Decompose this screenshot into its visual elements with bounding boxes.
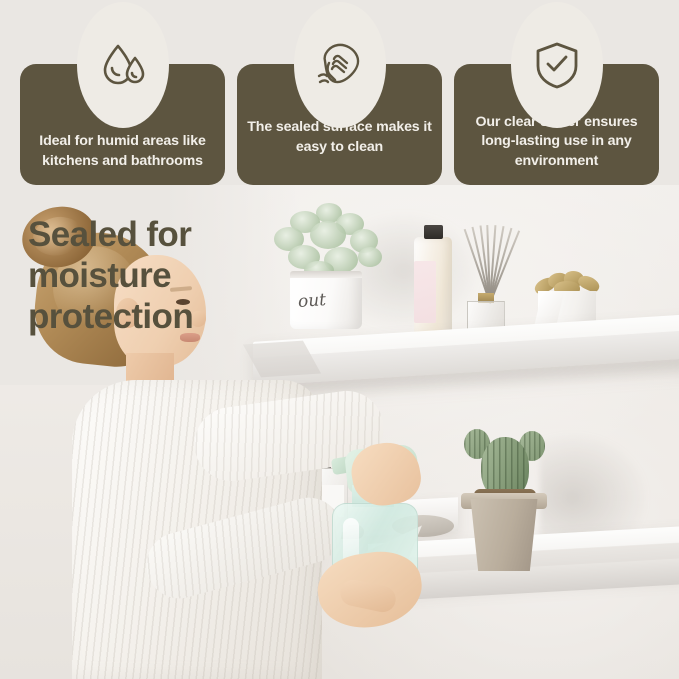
shield-check-icon bbox=[511, 2, 603, 128]
hand-wiping-cloth-icon bbox=[294, 2, 386, 128]
feature-card-humid-areas: Ideal for humid areas like kitchens and … bbox=[20, 64, 225, 185]
water-droplets-icon bbox=[77, 2, 169, 128]
headline: Sealed for moisture protection bbox=[28, 214, 278, 337]
feature-card-text: The sealed surface makes it easy to clea… bbox=[237, 118, 442, 185]
bottle-label bbox=[414, 261, 436, 323]
feature-card-text: Ideal for humid areas like kitchens and … bbox=[20, 132, 225, 185]
feature-card-row: Ideal for humid areas like kitchens and … bbox=[0, 0, 679, 200]
product-infographic: out bbox=[0, 0, 679, 679]
terracotta-pot bbox=[466, 499, 542, 571]
feature-card-easy-to-clean: The sealed surface makes it easy to clea… bbox=[237, 64, 442, 185]
bottle-cap bbox=[424, 225, 443, 239]
diffuser-reeds bbox=[455, 225, 525, 303]
feature-card-clear-sealer: Our clear sealer ensures long-lasting us… bbox=[454, 64, 659, 185]
